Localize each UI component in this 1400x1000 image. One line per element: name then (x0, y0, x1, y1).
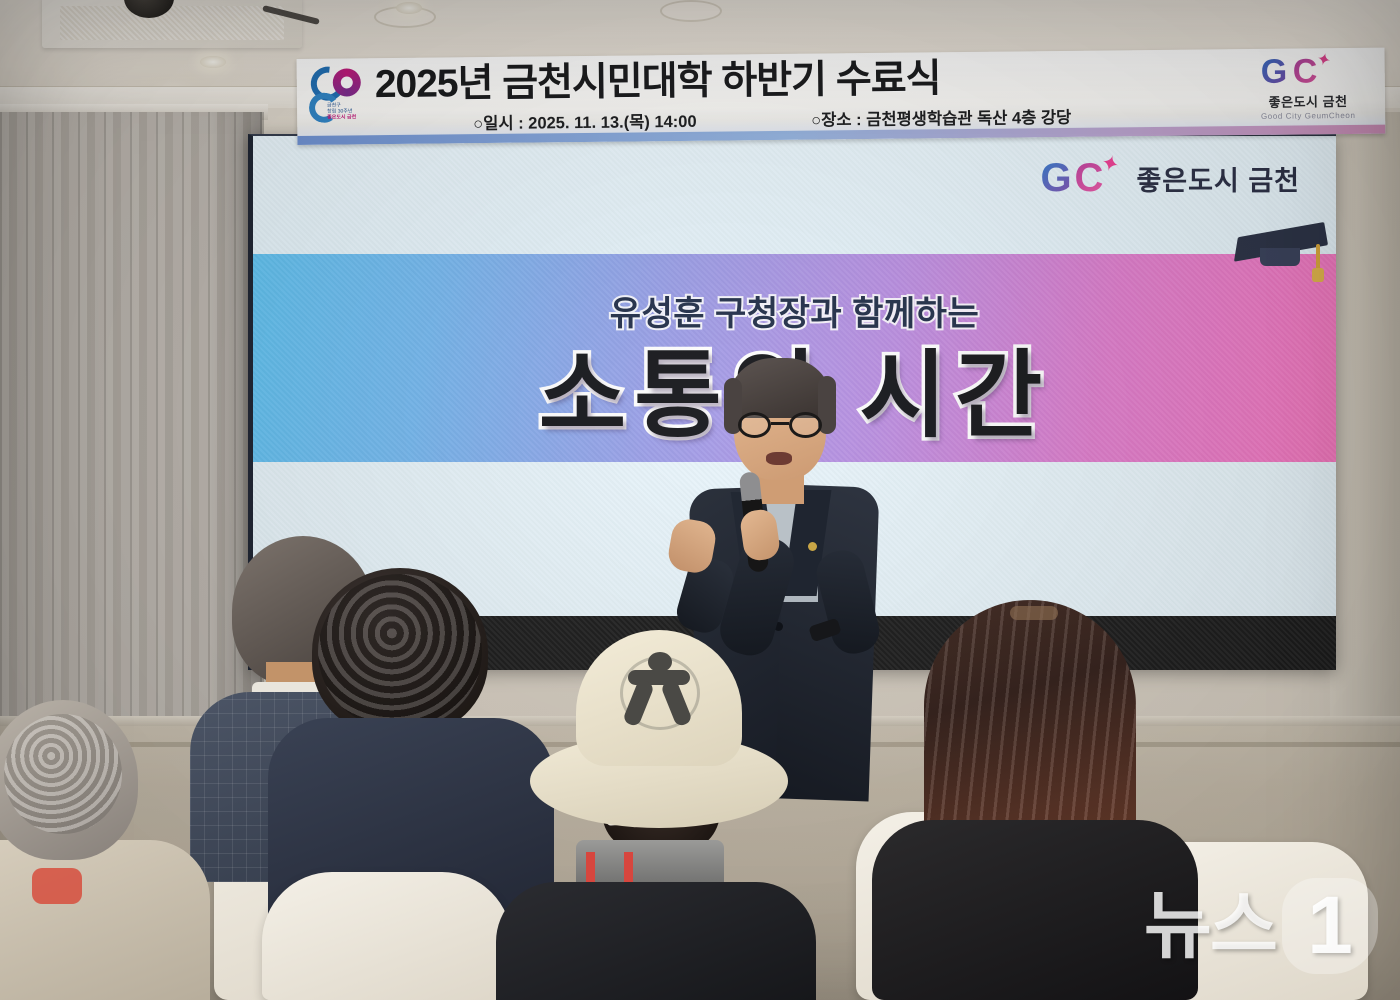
glasses-bridge (771, 422, 789, 425)
logo-letter-c: C (1074, 158, 1103, 198)
hair-part (1010, 606, 1058, 620)
event-photo: G C ✦ 좋은도시 금천 유성훈 구청장과 함께하는 소통의 시간 금천구 창… (0, 0, 1400, 1000)
watermark-text: 뉴스 (1144, 887, 1276, 965)
audience-chair (262, 872, 512, 1000)
eyeglasses-icon (738, 412, 822, 438)
screen-brand-logo: G C ✦ 좋은도시 금천 (1040, 158, 1300, 198)
audience-member (520, 630, 790, 1000)
hat-graphic-dot (648, 652, 672, 672)
logo-circle-magenta (333, 68, 361, 96)
right-wall (1330, 112, 1400, 752)
scarf (32, 868, 82, 904)
cap-knot (1312, 268, 1324, 282)
anniversary-logo-text: 금천구 창립 30주년 좋은도시 금천 (327, 102, 367, 120)
torso (0, 840, 210, 1000)
star-icon: ✦ (1314, 49, 1332, 72)
banner-datetime: ○일시 : 2025. 11. 13.(목) 14:00 (473, 108, 697, 134)
watermark-digit: 1 (1282, 878, 1378, 974)
ceiling-ring (660, 0, 722, 22)
logo-letter-g: G (1261, 55, 1288, 89)
screen-logo-korean: 좋은도시 금천 (1136, 159, 1300, 198)
banner-title: 2025년 금천시민대학 하반기 수료식 (375, 52, 1225, 109)
banner-brand-logo: G C ✦ 좋은도시 금천 Good City GeumCheon (1237, 52, 1380, 129)
banner-location: ○장소 : 금천평생학습관 독산 4층 강당 (811, 104, 1071, 131)
head (312, 568, 488, 736)
audience-member (900, 600, 1170, 1000)
logo-letter-g: G (1040, 158, 1071, 198)
banner-logo-korean: 좋은도시 금천 (1237, 91, 1379, 111)
logo-letter-c: C (1293, 54, 1318, 88)
lens-left (738, 412, 771, 438)
watermark-number: 1 (1282, 878, 1378, 974)
anniversary-30-logo-icon: 금천구 창립 30주년 좋은도시 금천 (305, 62, 368, 139)
speaker-hair (728, 358, 832, 418)
ac-grille (60, 6, 284, 40)
lapel-badge-icon (808, 542, 817, 551)
graduation-cap-icon (1236, 228, 1328, 282)
head (0, 700, 138, 860)
recessed-downlight-icon (396, 2, 422, 14)
screen-subtitle: 유성훈 구청장과 함께하는 (253, 286, 1336, 335)
audience-member (286, 568, 536, 908)
cap-base (1260, 248, 1300, 266)
hat-graphic-icon (624, 652, 694, 724)
gc-mark-icon: G C ✦ (1040, 158, 1126, 198)
gc-mark-icon: G C ✦ (1237, 52, 1379, 91)
news1-watermark: 뉴스 1 (1144, 878, 1378, 974)
lens-right (789, 412, 822, 438)
speaker-mouth (766, 452, 792, 465)
cap-tassel (1316, 244, 1320, 270)
event-banner: 금천구 창립 30주년 좋은도시 금천 2025년 금천시민대학 하반기 수료식… (297, 48, 1386, 145)
banner-logo-english: Good City GeumCheon (1237, 111, 1379, 121)
audience-member (0, 700, 210, 1000)
torso (496, 882, 816, 1000)
recessed-downlight-icon (200, 56, 226, 68)
